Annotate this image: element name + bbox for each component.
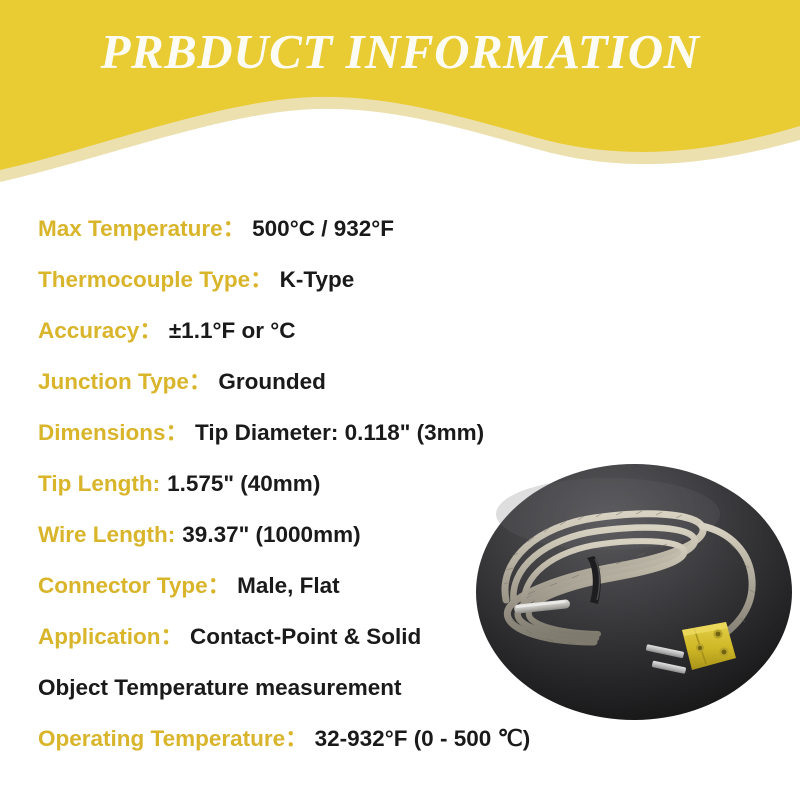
spec-row-dimensions: Dimensions：Tip Diameter: 0.118" (3mm) (38, 407, 658, 458)
connector-screw-lower-slot (722, 650, 727, 655)
spec-label: Connector Type： (38, 573, 230, 598)
spec-row-thermocouple-type: Thermocouple Type：K-Type (38, 254, 658, 305)
spec-label: Operating Temperature： (38, 726, 308, 751)
spec-row-connector-type: Connector Type：Male, Flat (38, 560, 658, 611)
spec-row-tip-length: Tip Length:1.575" (40mm) (38, 458, 658, 509)
spec-value: Male, Flat (237, 573, 340, 598)
spec-row-application: Application：Contact-Point & Solid (38, 611, 658, 662)
product-information-page: PRBDUCT INFORMATION Max Temperature：500°… (0, 0, 800, 800)
spec-row-junction-type: Junction Type：Grounded (38, 356, 658, 407)
spec-label: Wire Length: (38, 522, 175, 547)
spec-value: K-Type (280, 267, 355, 292)
page-title: PRBDUCT INFORMATION (0, 23, 800, 80)
spec-value: ±1.1°F or °C (169, 318, 296, 343)
spec-value: Tip Diameter: 0.118" (3mm) (195, 420, 484, 445)
spec-row-accuracy: Accuracy：±1.1°F or °C (38, 305, 658, 356)
specification-list: Max Temperature：500°C / 932°F Thermocoup… (38, 203, 658, 764)
spec-row-wire-length: Wire Length:39.37" (1000mm) (38, 509, 658, 560)
spec-value: 39.37" (1000mm) (182, 522, 360, 547)
spec-value: Object Temperature measurement (38, 675, 401, 700)
spec-row-max-temperature: Max Temperature：500°C / 932°F (38, 203, 658, 254)
spec-row-application-continued: Object Temperature measurement (38, 662, 658, 713)
spec-label: Accuracy： (38, 318, 162, 343)
spec-value: 1.575" (40mm) (167, 471, 320, 496)
connector-screw-upper-slot (716, 632, 721, 637)
spec-label: Max Temperature： (38, 216, 245, 241)
spec-row-operating-temperature: Operating Temperature：32-932°F (0 - 500 … (38, 713, 658, 764)
spec-label: Junction Type： (38, 369, 211, 394)
spec-value: 500°C / 932°F (252, 216, 394, 241)
spec-value: Contact-Point & Solid (190, 624, 421, 649)
spec-value: Grounded (218, 369, 326, 394)
connector-screw-mid-slot (698, 646, 702, 650)
spec-value: 32-932°F (0 - 500 ℃) (315, 726, 531, 751)
spec-label: Application： (38, 624, 183, 649)
spec-label: Dimensions： (38, 420, 188, 445)
spec-label: Thermocouple Type： (38, 267, 273, 292)
spec-label: Tip Length: (38, 471, 160, 496)
header-banner: PRBDUCT INFORMATION (0, 0, 800, 182)
